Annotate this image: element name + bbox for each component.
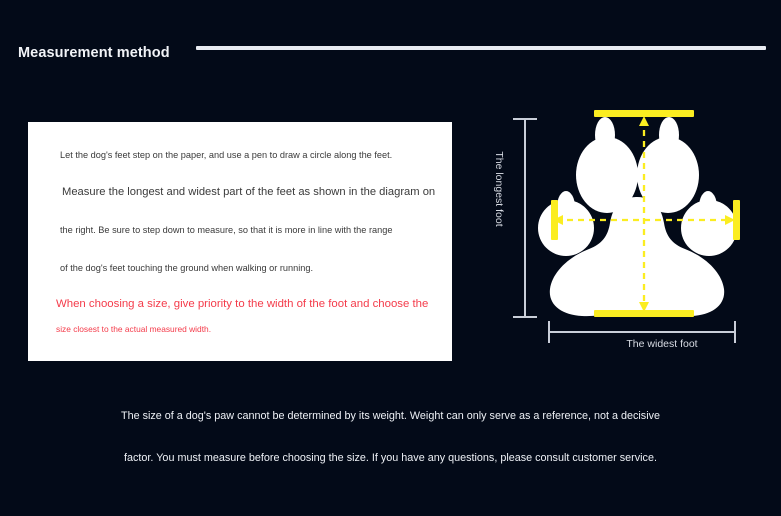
vertical-dimension-line: [513, 119, 537, 317]
header-divider: [196, 46, 766, 50]
paw-measurement-diagram: The longest foot The widest foot: [480, 95, 780, 375]
instruction-highlight-2: size closest to the actual measured widt…: [56, 324, 434, 334]
footer-note: The size of a dog's paw cannot be determ…: [0, 402, 781, 464]
widest-foot-label: The widest foot: [542, 338, 781, 350]
paw-diagram-graphic: [480, 95, 780, 375]
footer-line-2: factor. You must measure before choosing…: [0, 452, 781, 464]
toe-pad-right-outer: [681, 200, 737, 256]
instruction-line-3: the right. Be sure to step down to measu…: [60, 225, 434, 235]
instruction-line-2: Measure the longest and widest part of t…: [62, 186, 434, 198]
page-header: Measurement method: [0, 0, 781, 78]
page-title: Measurement method: [18, 45, 170, 61]
instruction-line-1: Let the dog's feet step on the paper, an…: [60, 150, 434, 160]
instruction-highlight-1: When choosing a size, give priority to t…: [56, 298, 434, 310]
instruction-card: Let the dog's feet step on the paper, an…: [28, 122, 452, 361]
instruction-line-4: of the dog's feet touching the ground wh…: [60, 263, 434, 273]
top-measure-bar: [594, 110, 694, 117]
longest-foot-label: The longest foot: [493, 134, 505, 244]
toe-pad-left-outer: [538, 200, 594, 256]
arrowhead-up: [639, 116, 649, 126]
footer-line-1: The size of a dog's paw cannot be determ…: [0, 410, 781, 422]
paw-silhouette: [538, 117, 737, 316]
